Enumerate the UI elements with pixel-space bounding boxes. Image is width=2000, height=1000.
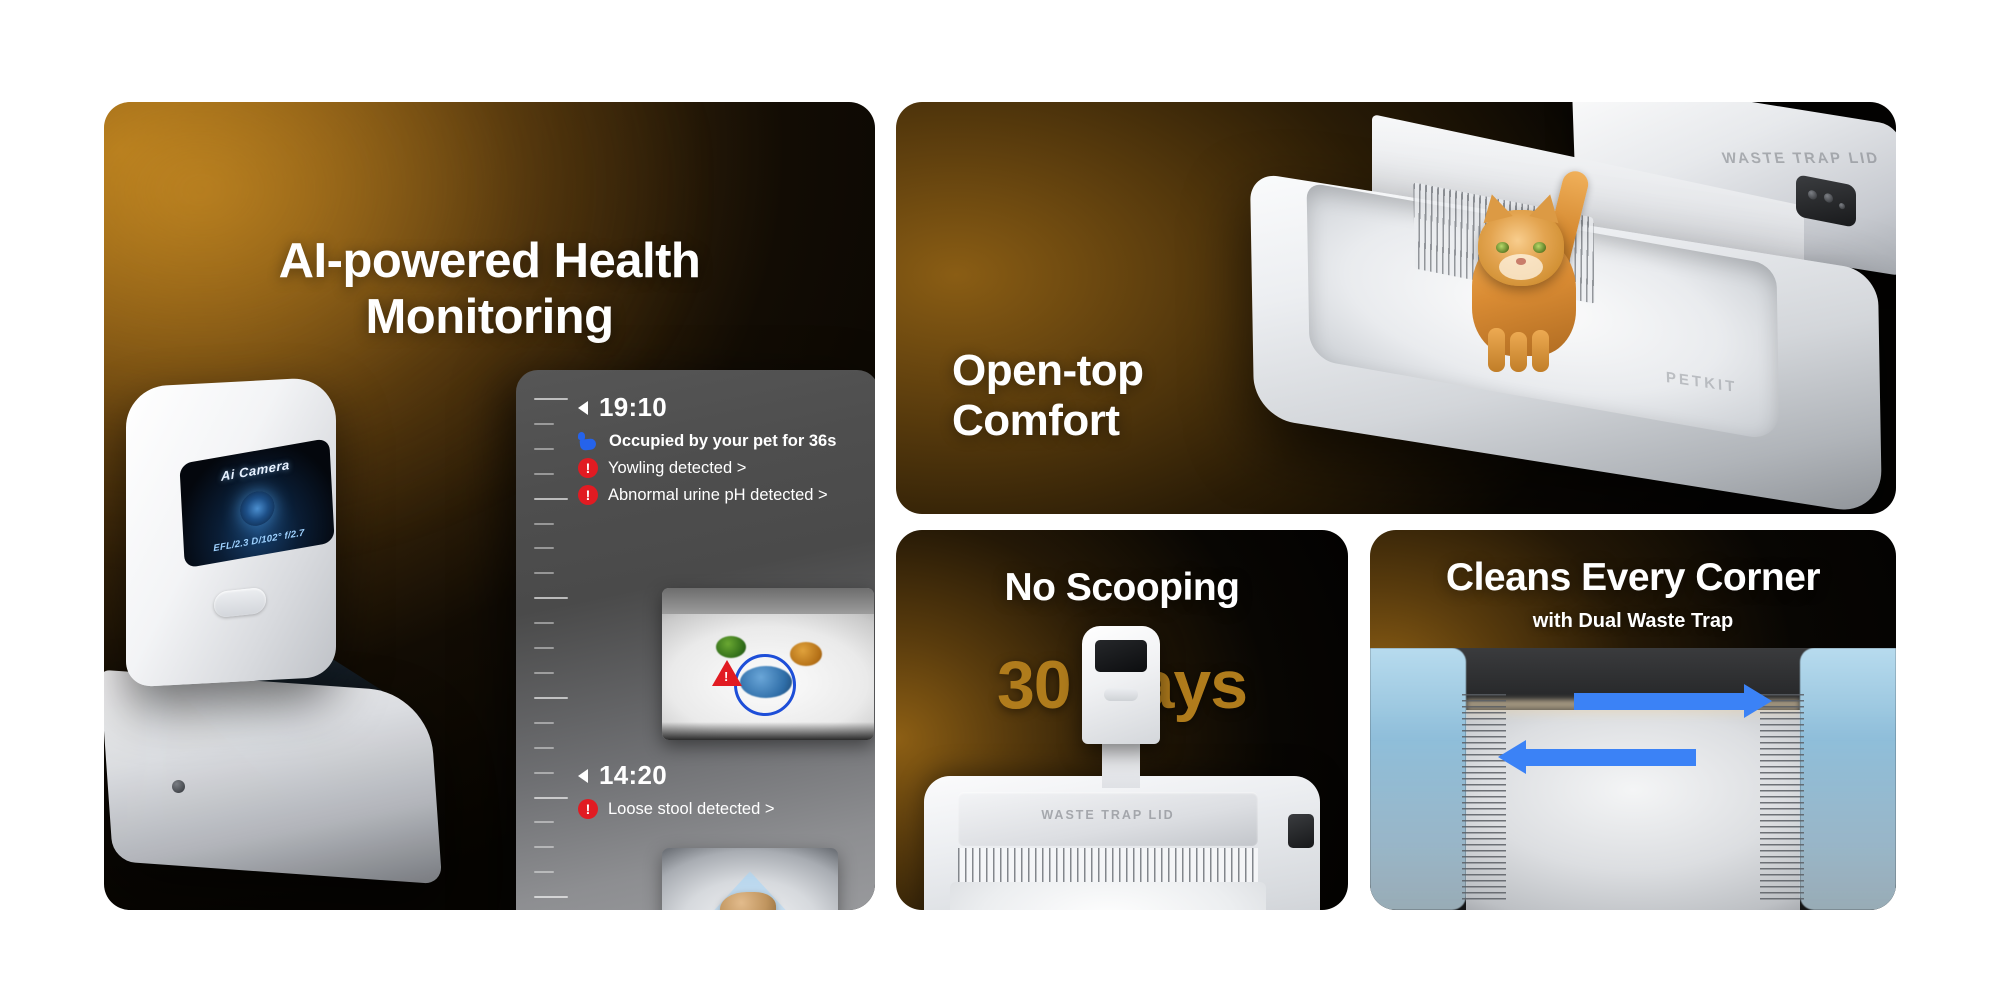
cat-eye-right: [1533, 242, 1546, 253]
notification-row-yowling[interactable]: ! Yowling detected >: [578, 458, 870, 478]
dual-waste-trap-scene: [1370, 648, 1896, 910]
camera-lens-icon: [239, 488, 275, 528]
panel-open-top-comfort[interactable]: Open-top Comfort WASTE TRAP LID PETKIT: [896, 102, 1896, 514]
side-sensor-panel: [1288, 814, 1314, 848]
notification-card[interactable]: 19:10 Occupied by your pet for 36s ! Yow…: [516, 370, 875, 910]
camera-button[interactable]: [214, 587, 266, 618]
alert-icon: !: [578, 799, 598, 819]
panel-no-scooping[interactable]: No Scooping 30 Days WASTE TRAP LID: [896, 530, 1348, 910]
camera-button[interactable]: [1104, 688, 1138, 701]
rake-comb-icon: [958, 848, 1258, 882]
corner-panel-title: Cleans Every Corner: [1370, 556, 1896, 600]
warning-triangle-icon: !: [712, 660, 742, 686]
litter-bed: [950, 882, 1266, 910]
detection-circle-icon: [734, 654, 796, 716]
rake-comb-right-icon: [1760, 694, 1804, 904]
notification-row-text: Yowling detected >: [608, 459, 746, 478]
cat-photo: [1448, 174, 1638, 384]
notification-time: 14:20: [578, 760, 870, 791]
arrow-right-icon: [1574, 684, 1772, 718]
health-title-line-1: AI-powered Health: [104, 234, 875, 290]
notification-row-text: Loose stool detected >: [608, 800, 775, 819]
ai-camera-label: Ai Camera: [180, 450, 331, 491]
health-panel-title: AI-powered Health Monitoring: [104, 234, 875, 346]
camera-body: Ai Camera EFL/2.3 D/102° f/2.7: [126, 376, 336, 687]
rake-comb-left-icon: [1462, 694, 1506, 904]
scooping-panel-title: No Scooping: [896, 566, 1348, 610]
panel-ai-health-monitoring[interactable]: AI-powered Health Monitoring Ai Camera E…: [104, 102, 875, 910]
camera-base: [104, 670, 442, 885]
warning-glyph: !: [724, 669, 728, 684]
waste-trap-right: [1800, 648, 1896, 910]
camera-sensor-dot-icon: [172, 780, 185, 793]
cat-head: [1478, 210, 1564, 286]
litter-box-front-view: WASTE TRAP LID: [896, 626, 1348, 910]
notification-row-urine-ph[interactable]: ! Abnormal urine pH detected >: [578, 485, 870, 505]
notification-group: 19:10 Occupied by your pet for 36s ! Yow…: [578, 392, 870, 512]
cat-nose: [1516, 258, 1526, 265]
paw-icon: [578, 431, 599, 451]
waste-trap-lid-label: WASTE TRAP LID: [1721, 150, 1881, 167]
notification-row-text: Occupied by your pet for 36s: [609, 432, 836, 451]
caret-left-icon[interactable]: [578, 401, 588, 415]
camera-screen: [1095, 640, 1147, 672]
green-clump-icon: [716, 636, 746, 658]
notification-row-text: Abnormal urine pH detected >: [608, 486, 828, 505]
alert-icon: !: [578, 458, 598, 478]
cat-eye-left: [1496, 242, 1509, 253]
orange-clump-icon: [790, 642, 822, 666]
alert-icon: !: [578, 485, 598, 505]
sensor-dot-icon: [1839, 203, 1845, 210]
waste-trap-lid: WASTE TRAP LID: [958, 792, 1258, 846]
cat-ear-left: [1477, 191, 1512, 223]
camera-screen: Ai Camera EFL/2.3 D/102° f/2.7: [179, 438, 334, 568]
notification-time-label: 14:20: [599, 760, 667, 791]
ai-camera-device: Ai Camera EFL/2.3 D/102° f/2.7: [112, 382, 402, 852]
litter-tray-snapshot-2[interactable]: [662, 848, 838, 910]
notification-time: 19:10: [578, 392, 870, 423]
caret-left-icon[interactable]: [578, 769, 588, 783]
notification-time-label: 19:10: [599, 392, 667, 423]
arrow-left-icon: [1498, 740, 1696, 774]
camera-spec-text: EFL/2.3 D/102° f/2.7: [184, 522, 334, 559]
feature-grid: AI-powered Health Monitoring Ai Camera E…: [0, 0, 2000, 1000]
notification-row-loose-stool[interactable]: ! Loose stool detected >: [578, 799, 870, 819]
device-neck: [1102, 738, 1140, 788]
health-title-line-2: Monitoring: [104, 290, 875, 346]
waste-trap-lid-label: WASTE TRAP LID: [958, 808, 1258, 822]
ai-camera-module: [1082, 626, 1160, 744]
cat-legs: [1486, 324, 1562, 372]
corner-panel-subtitle: with Dual Waste Trap: [1370, 610, 1896, 633]
panel-cleans-every-corner[interactable]: Cleans Every Corner with Dual Waste Trap: [1370, 530, 1896, 910]
notification-group: 14:20 ! Loose stool detected >: [578, 760, 870, 826]
timeline-ruler: [534, 398, 568, 910]
sensor-dot-icon: [1808, 190, 1817, 201]
sensor-dot-icon: [1824, 193, 1833, 204]
waste-trap-left: [1370, 648, 1466, 910]
litter-box-open-top: WASTE TRAP LID PETKIT: [1196, 106, 1896, 514]
stool-sample-icon: [720, 892, 776, 910]
notification-row-occupied[interactable]: Occupied by your pet for 36s: [578, 431, 870, 451]
litter-tray-snapshot-1[interactable]: !: [662, 588, 874, 740]
